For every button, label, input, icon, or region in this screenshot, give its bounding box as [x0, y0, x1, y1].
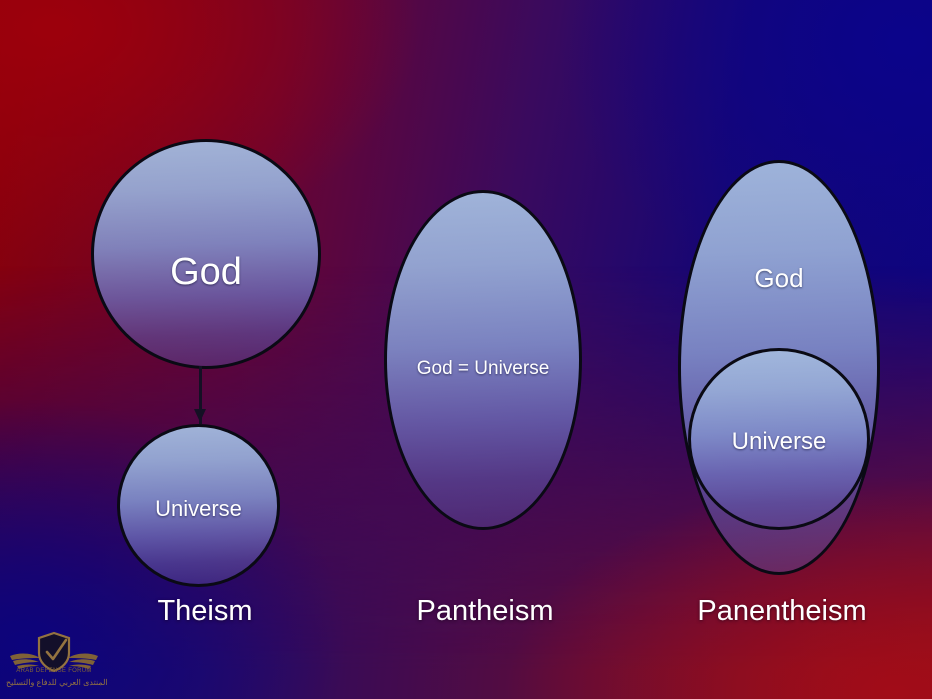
caption-panentheism: Panentheism	[672, 595, 892, 628]
diagram-slide: God Universe Theism God = Universe Panth…	[0, 0, 932, 699]
panentheism-god-label: God	[754, 263, 803, 294]
theism-universe-label: Universe	[155, 496, 242, 522]
caption-pantheism: Pantheism	[385, 595, 585, 628]
watermark-english-text: ARAB DEFENSE FORUM	[6, 668, 102, 674]
pantheism-god-universe-ellipse: God = Universe	[384, 190, 582, 530]
theism-god-label: God	[170, 251, 242, 294]
theism-god-circle: God	[91, 139, 321, 369]
panentheism-universe-circle: Universe	[688, 348, 870, 530]
panentheism-universe-label: Universe	[732, 428, 827, 456]
watermark-logo: ARAB DEFENSE FORUM المنتدى العربي للدفاع…	[6, 630, 102, 692]
watermark-arabic-text: المنتدى العربي للدفاع والتسليح	[6, 678, 102, 687]
caption-theism: Theism	[110, 595, 300, 628]
theism-universe-circle: Universe	[117, 424, 280, 587]
pantheism-god-universe-label: God = Universe	[417, 358, 550, 380]
theism-arrow-head-icon	[194, 409, 206, 422]
